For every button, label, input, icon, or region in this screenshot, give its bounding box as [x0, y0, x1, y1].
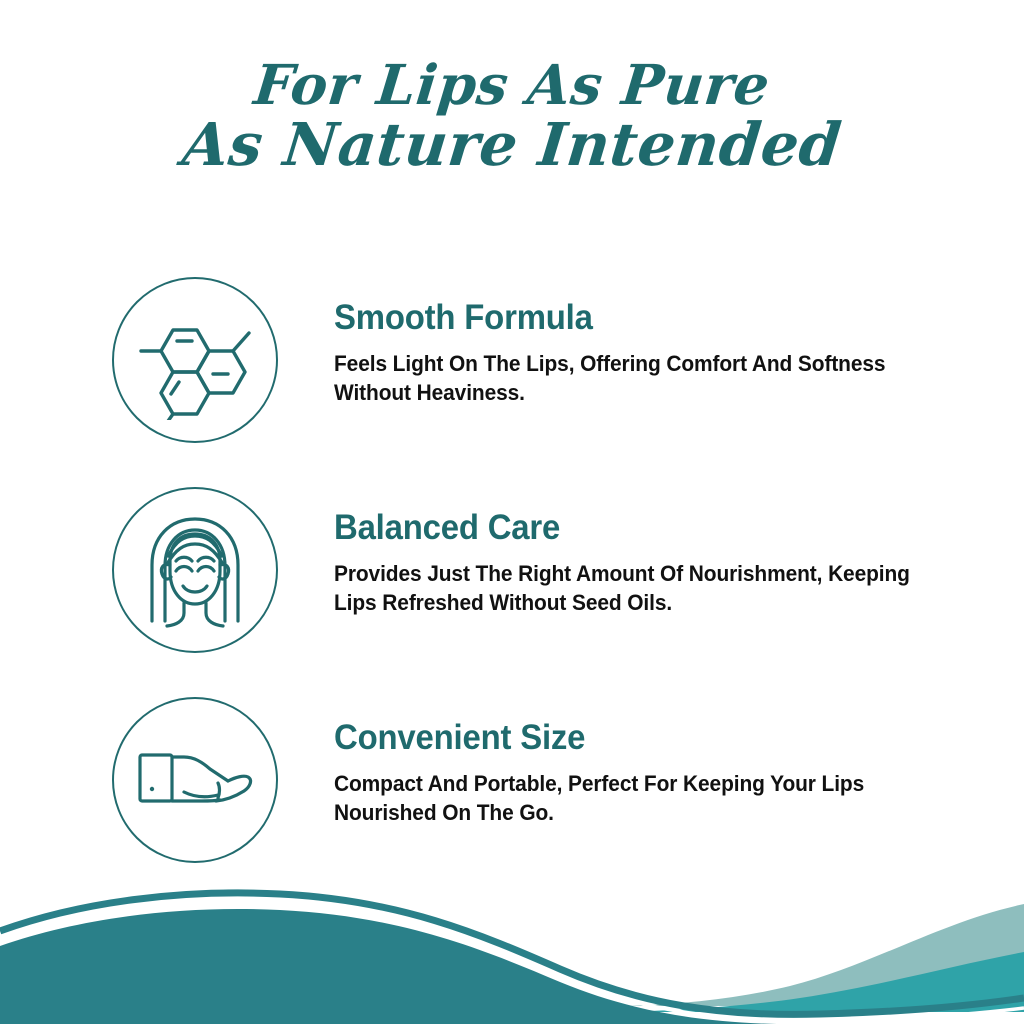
feature-icon-frame [112, 277, 278, 443]
feature-icon-frame [112, 697, 278, 863]
feature-text-block: Smooth Formula Feels Light On The Lips, … [334, 300, 954, 407]
feature-description: Provides Just The Right Amount Of Nouris… [334, 559, 923, 618]
feature-title: Balanced Care [334, 510, 917, 547]
feature-icon-frame [112, 487, 278, 653]
feature-title: Smooth Formula [334, 300, 917, 337]
headline-line-1: For Lips As Pure [0, 58, 1024, 112]
molecule-hexagons-icon [135, 300, 255, 420]
bottom-wave-decoration [0, 874, 1024, 1024]
page-title: For Lips As Pure As Nature Intended [0, 58, 1024, 174]
headline-line-2: As Nature Intended [0, 116, 1024, 174]
feature-list: Smooth Formula Feels Light On The Lips, … [0, 262, 1024, 892]
feature-text-block: Convenient Size Compact And Portable, Pe… [334, 720, 954, 827]
feature-item-smooth-formula: Smooth Formula Feels Light On The Lips, … [0, 262, 1024, 472]
feature-text-block: Balanced Care Provides Just The Right Am… [334, 510, 954, 617]
feature-description: Compact And Portable, Perfect For Keepin… [334, 769, 923, 828]
open-hand-icon [132, 725, 258, 835]
feature-description: Feels Light On The Lips, Offering Comfor… [334, 349, 923, 408]
feature-title: Convenient Size [334, 720, 917, 757]
relaxed-face-icon [134, 509, 256, 631]
feature-item-convenient-size: Convenient Size Compact And Portable, Pe… [0, 682, 1024, 892]
poster-canvas: For Lips As Pure As Nature Intended [0, 0, 1024, 1024]
feature-item-balanced-care: Balanced Care Provides Just The Right Am… [0, 472, 1024, 682]
